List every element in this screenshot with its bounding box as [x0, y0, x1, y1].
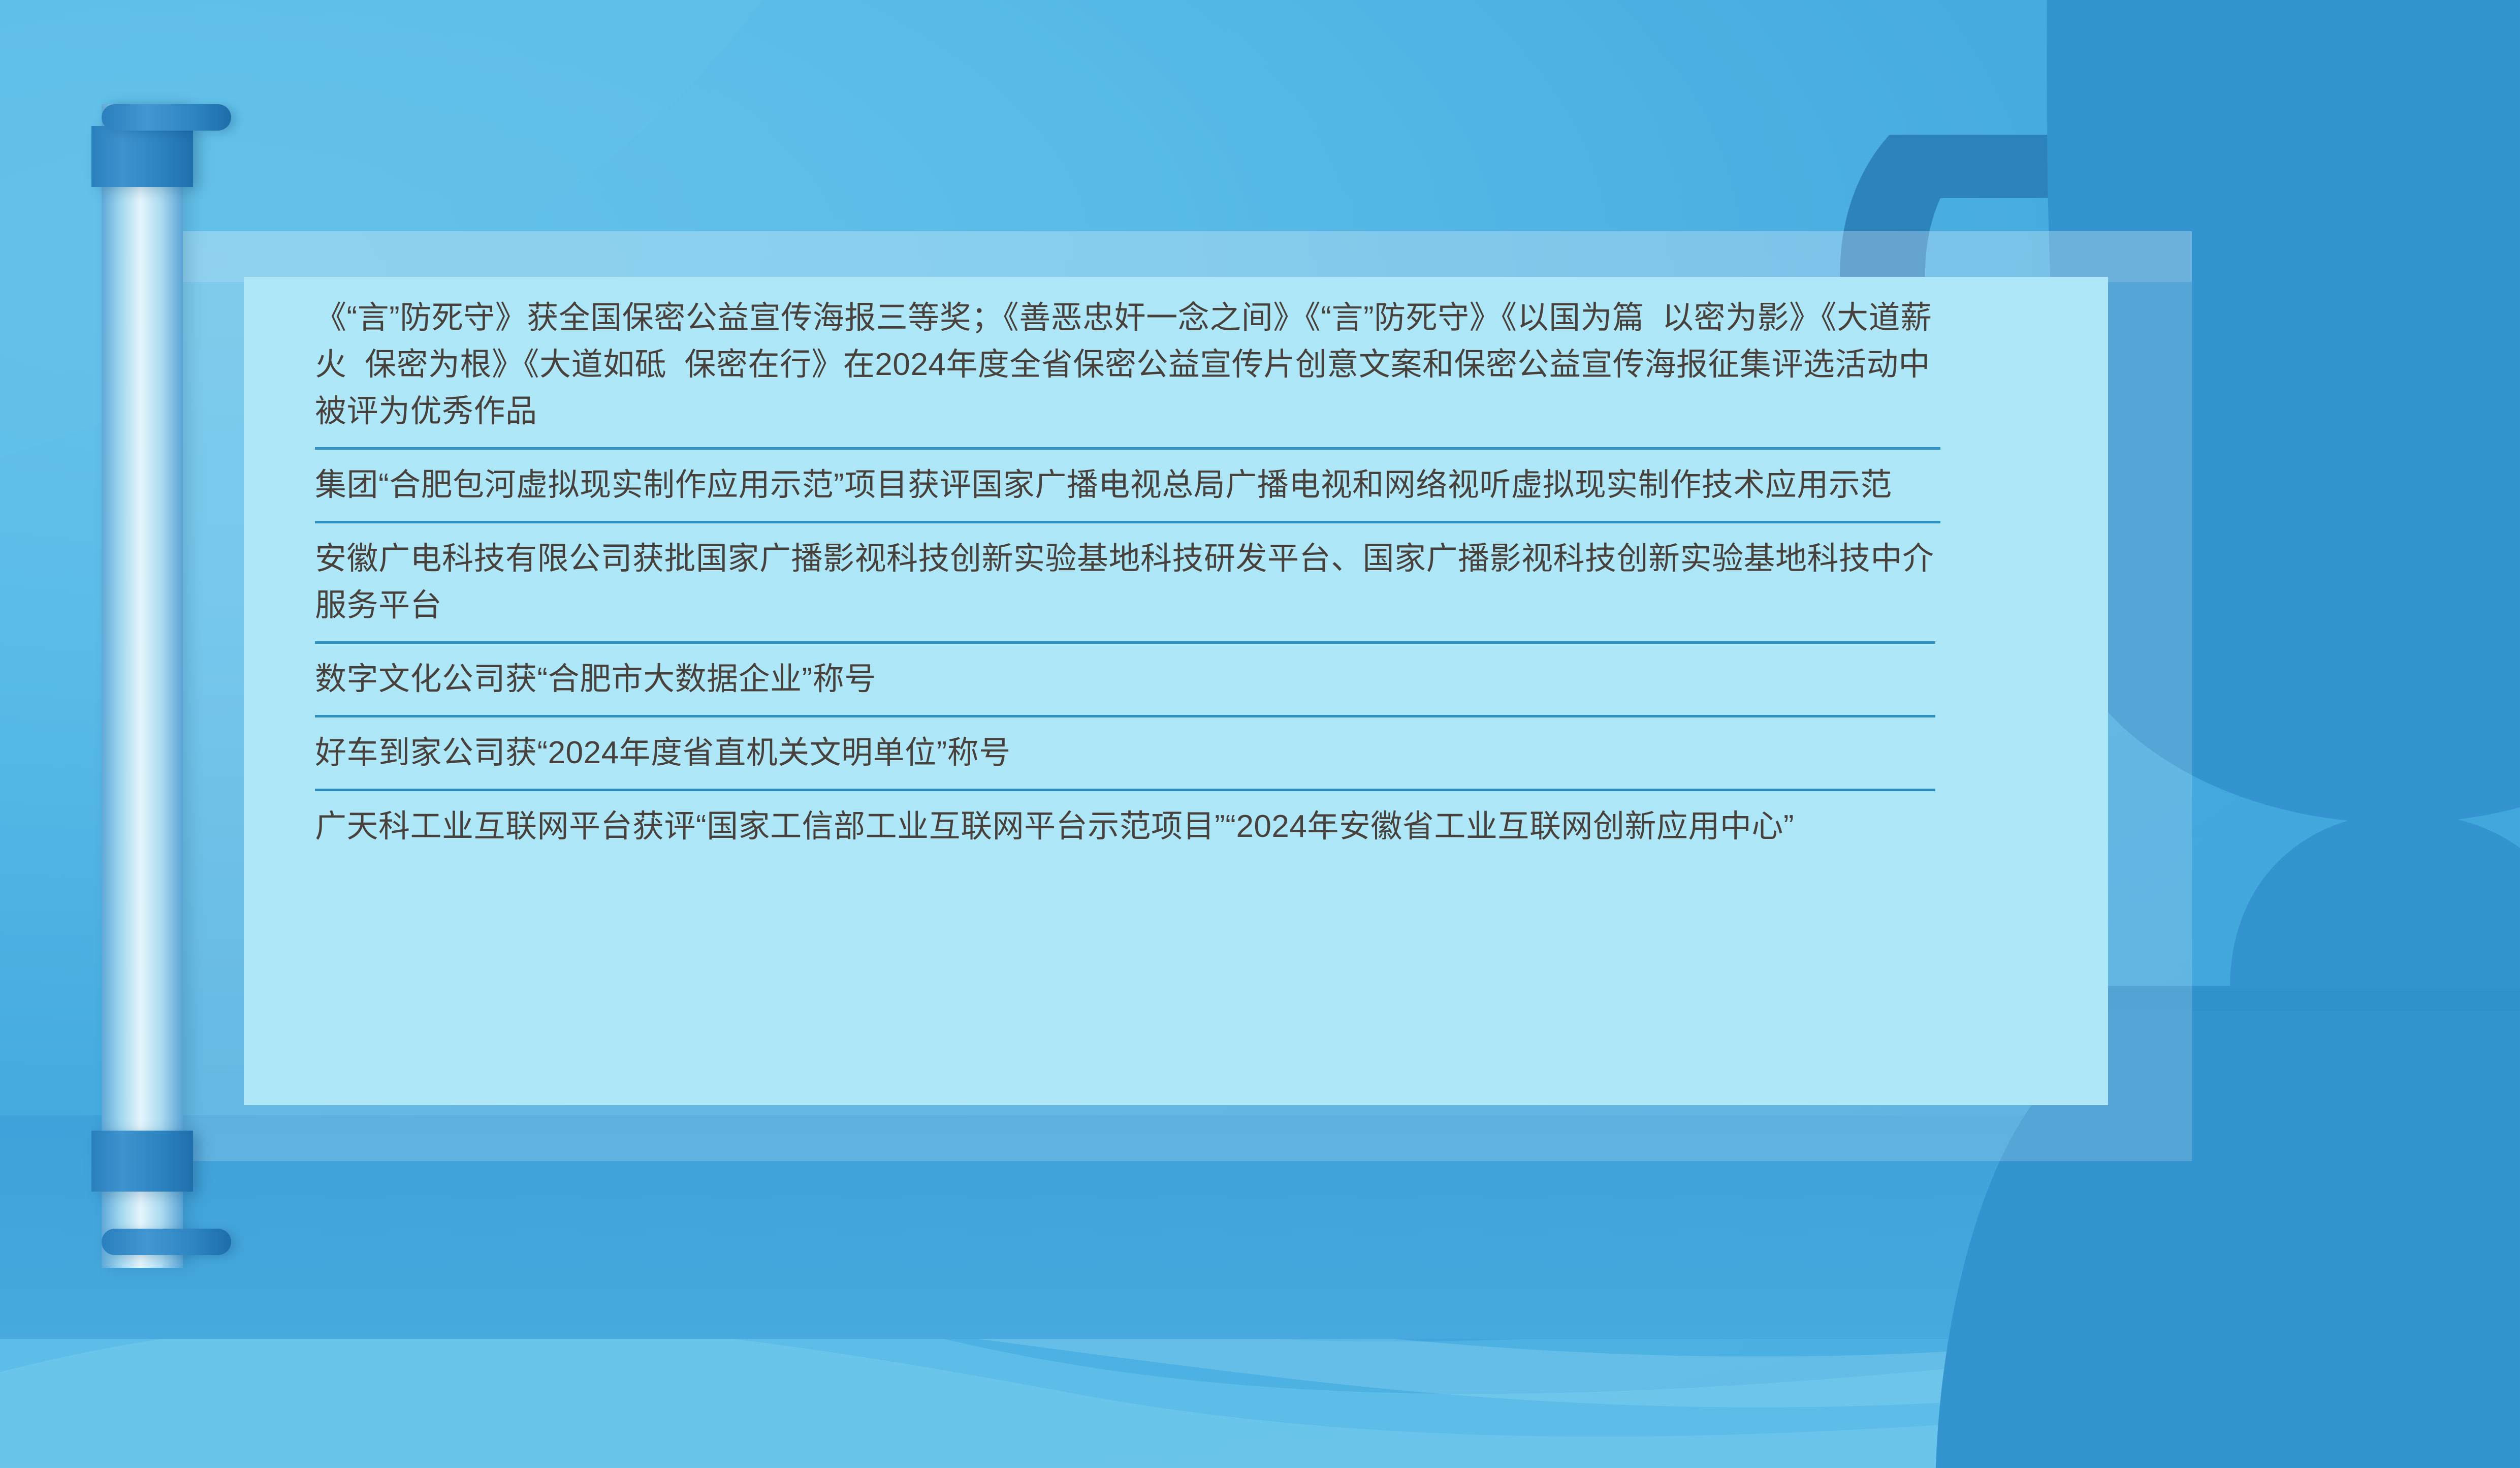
background-noise-texture — [0, 0, 2520, 1468]
